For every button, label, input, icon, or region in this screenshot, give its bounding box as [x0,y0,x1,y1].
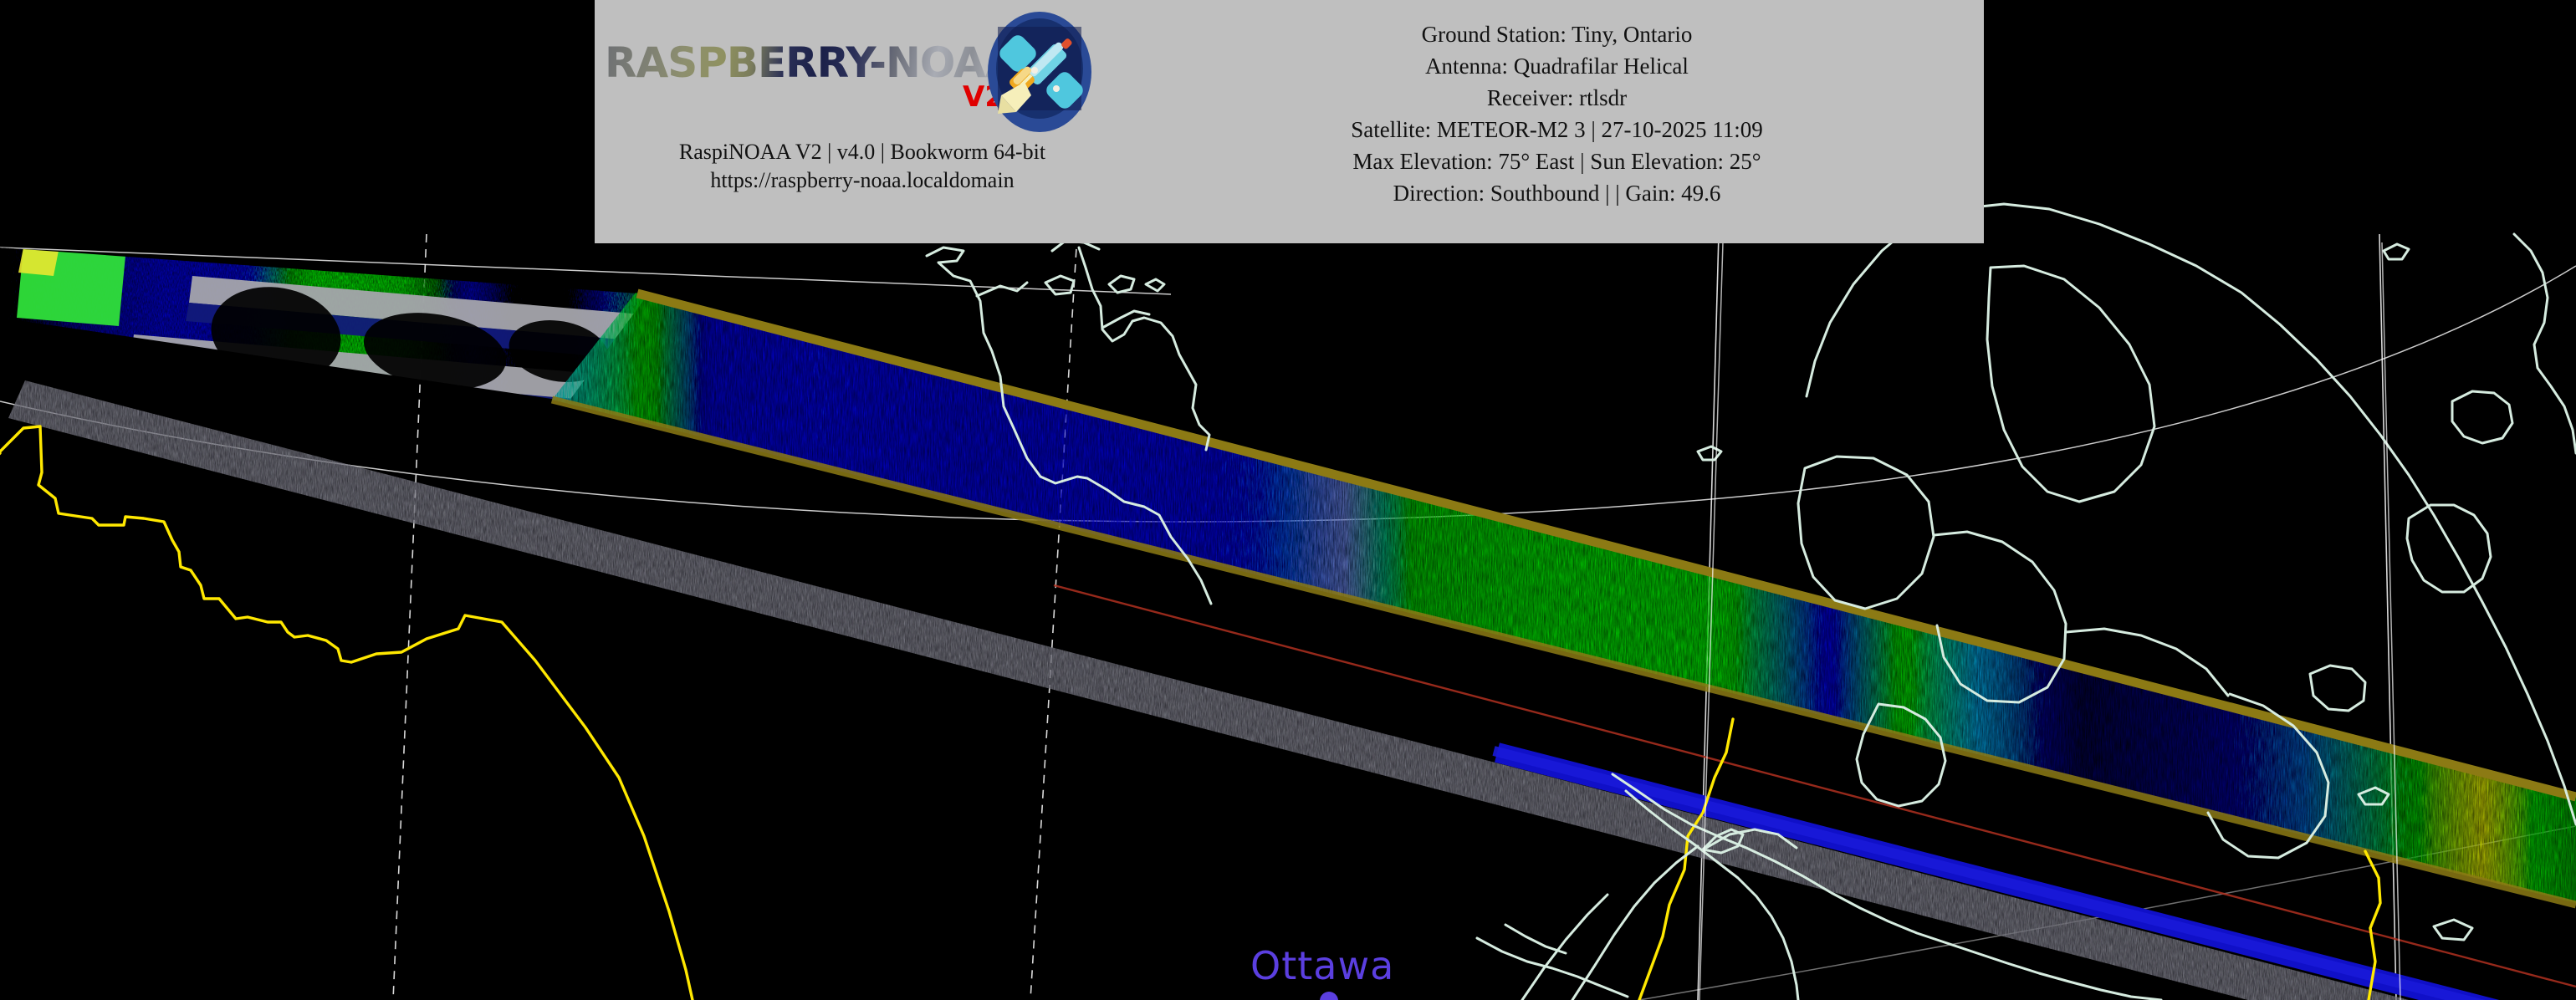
header-info-panel: RASPBERRY-NOAA V2 [595,0,1984,243]
satellite-icon [973,8,1107,135]
meta-direction-gain: Direction: Southbound | | Gain: 49.6 [1393,177,1721,209]
header-metadata-block: Ground Station: Tiny, Ontario Antenna: Q… [1130,0,1984,209]
header-version-text: RaspiNOAA V2 | v4.0 | Bookworm 64-bit [611,139,1113,166]
brand-row: RASPBERRY-NOAA V2 [595,3,1130,139]
header-branding-block: RASPBERRY-NOAA V2 [595,0,1130,194]
meta-elevation: Max Elevation: 75° East | Sun Elevation:… [1352,145,1761,177]
header-url: https://raspberry-noaa.localdomain [611,167,1113,194]
meta-ground-station: Ground Station: Tiny, Ontario [1422,18,1693,50]
meta-antenna: Antenna: Quadrafilar Helical [1425,50,1689,82]
brand-wordmark: RASPBERRY-NOAA [605,38,1016,87]
meta-receiver: Receiver: rtlsdr [1487,82,1627,114]
meta-satellite: Satellite: METEOR-M2 3 | 27-10-2025 11:0… [1351,114,1763,145]
satellite-pass-viewer: Ottawa RASPBERRY-NOAA V2 [0,0,2576,1000]
